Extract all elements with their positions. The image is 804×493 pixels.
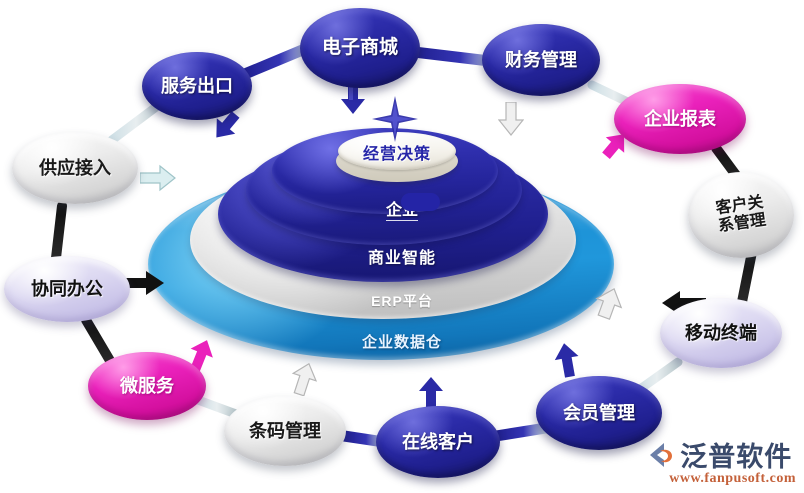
watermark-row: 泛普软件: [647, 435, 792, 474]
node-fuwuchukou[interactable]: 服务出口: [142, 52, 252, 120]
arrow-tiaomaguanli-up: [290, 362, 318, 396]
layer-label-erp: ERP平台: [0, 291, 804, 311]
sparkle-star: [372, 96, 418, 142]
node-caiwuguanli[interactable]: 财务管理: [482, 24, 600, 96]
watermark: 泛普软件 www.fanpusoft.com: [647, 435, 796, 487]
node-label-tiaomaguanli: 条码管理: [249, 421, 321, 442]
arrow-zaixiankehu-up: [418, 376, 444, 410]
node-weifuwu[interactable]: 微服务: [88, 352, 206, 420]
layer-label-bi: 商业智能: [0, 244, 804, 268]
node-dianzishangcheng[interactable]: 电子商城: [300, 8, 420, 88]
link-tiaomaguanli-weifuwu: [198, 400, 236, 414]
node-label-weifuwu: 微服务: [120, 376, 174, 397]
node-label-zaixiankehu: 在线客户: [402, 432, 474, 453]
arrow-gongyingjieru-right: [140, 164, 176, 192]
node-label-fuwuchukou: 服务出口: [161, 76, 233, 97]
diagram-canvas: 经营决策 企业 商业智能 ERP平台 企业数据仓 电子商城 服务出口 财务管理 …: [0, 0, 804, 493]
node-gongyingjieru[interactable]: 供应接入: [12, 132, 138, 204]
layer-label-core: 经营决策: [338, 140, 456, 164]
node-label-qiyebaobiao: 企业报表: [644, 109, 716, 130]
node-zaixiankehu[interactable]: 在线客户: [376, 406, 500, 478]
node-label-dianzishangcheng: 电子商城: [322, 37, 398, 59]
node-label-gongyingjieru: 供应接入: [39, 158, 111, 179]
node-label-huiyuanguanli: 会员管理: [563, 403, 635, 424]
arrow-dianzishangcheng-down: [340, 84, 366, 114]
node-label-caiwuguanli: 财务管理: [505, 50, 577, 71]
watermark-url: www.fanpusoft.com: [669, 471, 796, 487]
watermark-brand: 泛普软件: [680, 435, 792, 474]
fanpu-logo-icon: [647, 440, 677, 470]
node-tiaomaguanli[interactable]: 条码管理: [224, 396, 346, 466]
arrow-caiwuguanli-down: [498, 102, 524, 136]
node-huiyuanguanli[interactable]: 会员管理: [536, 376, 662, 450]
link-gongyingjieru-fuwuchukou: [112, 104, 160, 140]
redaction-block: [401, 193, 440, 211]
link-huiyuanguanli-zaixiankehu: [496, 428, 546, 436]
layer-label-datawarehouse: 企业数据仓: [0, 331, 804, 352]
node-qiyebaobiao[interactable]: 企业报表: [614, 84, 746, 154]
